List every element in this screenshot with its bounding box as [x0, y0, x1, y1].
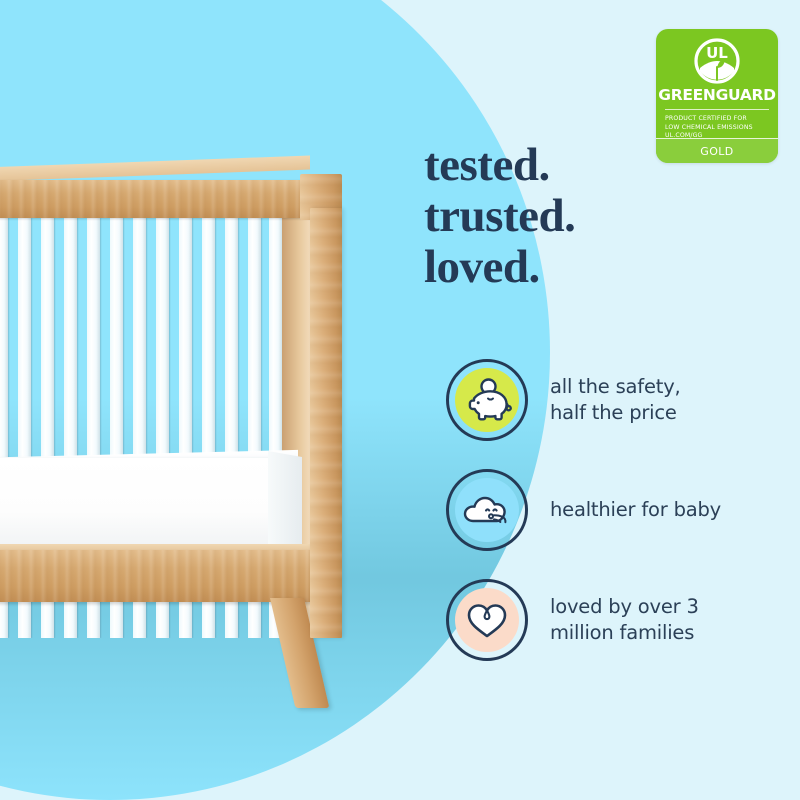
list-item: healthier for baby [446, 455, 776, 565]
feature-badge-safety [446, 359, 528, 441]
feature-badge-loved [446, 579, 528, 661]
feature-line-2: half the price [550, 400, 681, 426]
promo-graphic: tested. trusted. loved. all t [0, 0, 800, 800]
greenguard-detail-line-1: PRODUCT CERTIFIED FOR [665, 115, 769, 124]
crib-bottom-rail [0, 550, 320, 602]
ul-leaf-icon: UL [656, 29, 778, 84]
greenguard-divider [665, 109, 769, 110]
piggy-bank-icon [455, 368, 519, 432]
feature-line-1: loved by over 3 [550, 594, 699, 620]
crib-right-post [310, 208, 342, 638]
crib-mattress [0, 458, 298, 556]
feature-badge-healthier [446, 469, 528, 551]
feature-line-2: million families [550, 620, 699, 646]
heart-icon [455, 588, 519, 652]
feature-label: loved by over 3 million families [550, 594, 699, 646]
feature-label: all the safety, half the price [550, 374, 681, 426]
feature-line-1: healthier for baby [550, 497, 721, 523]
svg-text:UL: UL [706, 44, 728, 62]
piggy-bank-glyph [461, 377, 513, 423]
crib-top-rail [0, 180, 318, 218]
blowing-cloud-icon [455, 478, 519, 542]
feature-list: all the safety, half the price [446, 345, 776, 675]
headline-line-3: loved. [424, 242, 754, 293]
crib-mattress-side [268, 451, 302, 557]
feature-label: healthier for baby [550, 497, 721, 523]
wooden-crib-photo [0, 168, 370, 688]
ul-leaf-glyph: UL [694, 38, 740, 84]
heart-glyph [462, 598, 512, 642]
greenguard-level-badge: GOLD [656, 138, 778, 163]
greenguard-detail-line-2: LOW CHEMICAL EMISSIONS [665, 124, 769, 133]
headline-line-2: trusted. [424, 191, 754, 242]
greenguard-title: GREENGUARD [656, 86, 778, 104]
list-item: all the safety, half the price [446, 345, 776, 455]
feature-line-1: all the safety, [550, 374, 681, 400]
list-item: loved by over 3 million families [446, 565, 776, 675]
blowing-cloud-glyph [460, 488, 514, 532]
greenguard-certification-badge: UL GREENGUARD PRODUCT CERTIFIED FOR LOW … [656, 29, 778, 163]
